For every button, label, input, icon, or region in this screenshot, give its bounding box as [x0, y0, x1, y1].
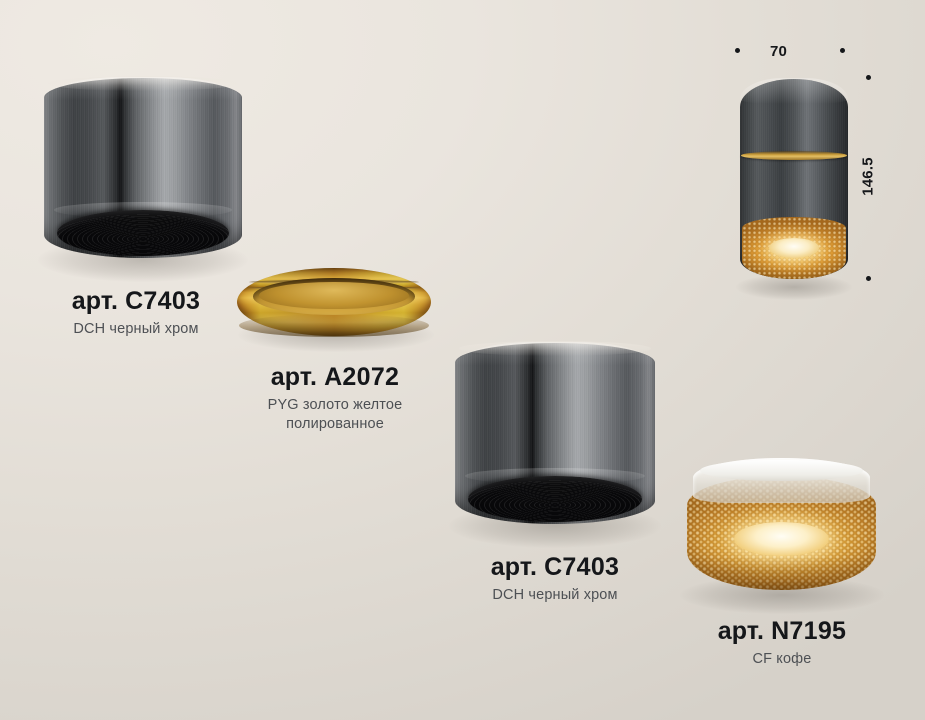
- article-subtitle: DCH черный хром: [434, 586, 676, 605]
- dimension-dot-height-top: [866, 75, 871, 80]
- label-n7195: арт. N7195 CF кофе: [666, 618, 898, 669]
- dimension-width-value: 70: [770, 43, 787, 60]
- article-prefix: арт.: [271, 363, 317, 391]
- article-subtitle: DCH черный хром: [20, 320, 252, 339]
- article-prefix: арт.: [491, 553, 537, 581]
- cylinder-aperture: [57, 210, 229, 256]
- label-c7403-top: арт. C7403 DCH черный хром: [20, 288, 252, 339]
- label-a2072: арт. A2072 PYG золото желтое полированно…: [215, 364, 455, 434]
- assembly-amber-diffuser: [742, 217, 846, 279]
- product-cylinder-c7403-mid: [455, 343, 655, 524]
- article-line: арт. N7195: [666, 618, 898, 645]
- subtitle-line-1: PYG золото желтое: [215, 396, 455, 415]
- article-line: арт. C7403: [434, 554, 676, 581]
- article-subtitle: CF кофе: [666, 650, 898, 669]
- product-cylinder-c7403-top: [44, 78, 242, 258]
- dimension-dot-width-right: [840, 48, 845, 53]
- label-c7403-mid: арт. C7403 DCH черный хром: [434, 554, 676, 605]
- diffuser-center-aperture: [734, 522, 829, 556]
- article-subtitle: PYG золото желтое полированное: [215, 396, 455, 434]
- dimension-dot-width-left: [735, 48, 740, 53]
- article-code: A2072: [324, 363, 399, 391]
- assembly-gold-band: [741, 151, 847, 160]
- article-code: C7403: [544, 553, 619, 581]
- dimension-dot-height-bottom: [866, 276, 871, 281]
- article-code: C7403: [125, 287, 200, 315]
- assembly-center-aperture: [769, 238, 819, 258]
- article-prefix: арт.: [718, 617, 764, 645]
- product-diffuser-n7195: [687, 458, 876, 590]
- article-line: арт. C7403: [20, 288, 252, 315]
- article-code: N7195: [771, 617, 846, 645]
- product-diagram-canvas: арт. C7403 DCH черный хром арт. A2072 PY…: [0, 0, 925, 720]
- subtitle-line-2: полированное: [215, 415, 455, 434]
- product-gold-ring-a2072: [237, 268, 431, 336]
- dimension-height-value: 146.5: [860, 153, 877, 201]
- article-line: арт. A2072: [215, 364, 455, 391]
- cylinder-aperture: [468, 476, 642, 522]
- diffuser-collar-top-rim: [700, 460, 863, 481]
- product-assembly-render: [740, 79, 848, 279]
- article-prefix: арт.: [72, 287, 118, 315]
